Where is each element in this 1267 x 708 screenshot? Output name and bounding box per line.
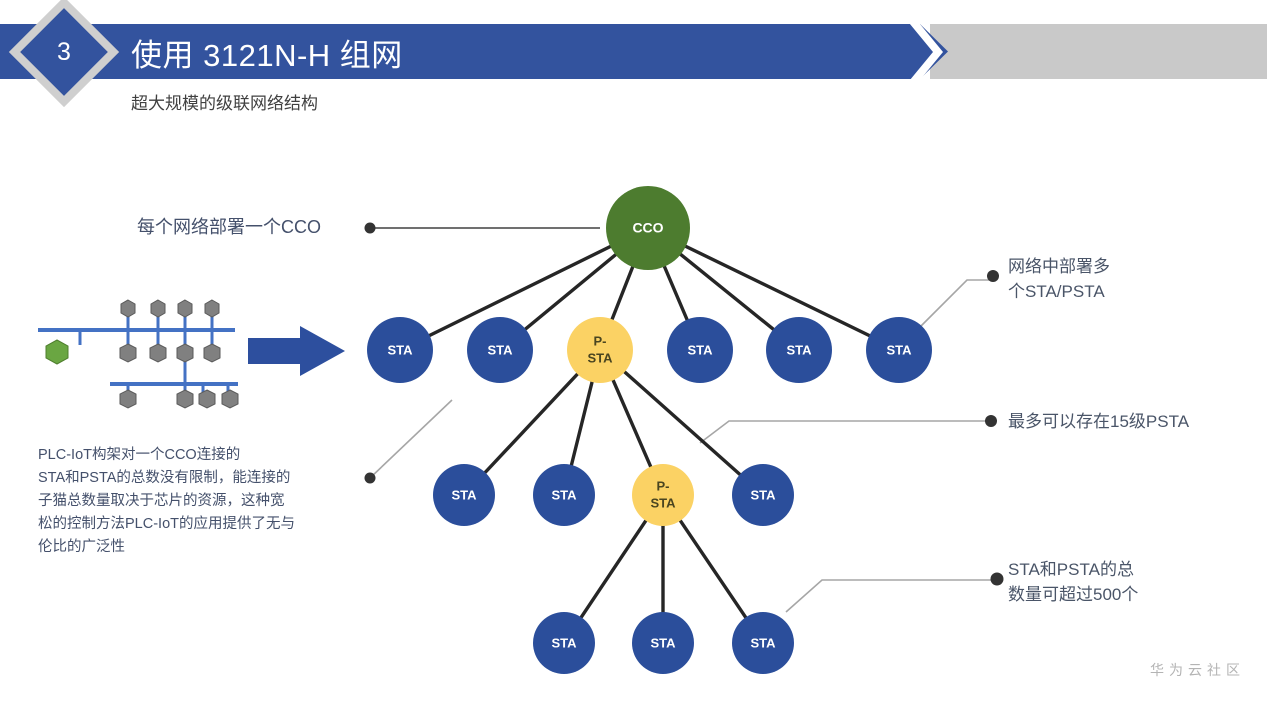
node-sta-3-label: STA [687,342,713,357]
node-cco-label: CCO [632,220,663,236]
node-sta-2-label: STA [487,342,513,357]
node-sta-6-label: STA [451,487,477,502]
tree-nodes: CCO STA STA P- STA STA STA [367,186,932,674]
node-sta-4-label: STA [786,342,812,357]
flow-arrow-icon [248,326,345,376]
slide-number: 3 [25,13,103,91]
node-cco[interactable]: CCO [606,186,690,270]
thumbnail-source-node [46,340,68,364]
annotation-total-count: STA和PSTA的总 数量可超过500个 [1008,557,1138,607]
node-sta-1-label: STA [387,342,413,357]
node-sta-11-label: STA [750,635,776,650]
node-sta-3[interactable]: STA [667,317,733,383]
node-psta-2-label-line2: STA [650,495,676,510]
node-sta-9[interactable]: STA [533,612,595,674]
annotation-description: PLC-IoT构架对一个CCO连接的 STA和PSTA的总数没有限制，能连接的 … [38,444,295,559]
node-sta-8-label: STA [750,487,776,502]
watermark: 华为云社区 [1150,660,1245,680]
node-sta-9-label: STA [551,635,577,650]
node-sta-11[interactable]: STA [732,612,794,674]
node-sta-10[interactable]: STA [632,612,694,674]
leader-lines [370,228,997,612]
node-sta-5-label: STA [886,342,912,357]
leader-dots [365,223,1004,586]
node-sta-7-label: STA [551,487,577,502]
node-sta-2[interactable]: STA [467,317,533,383]
node-sta-8[interactable]: STA [732,464,794,526]
node-sta-1[interactable]: STA [367,317,433,383]
node-psta-2-label-line1: P- [657,478,670,493]
node-sta-5[interactable]: STA [866,317,932,383]
page-title: 使用 3121N-H 组网 [131,30,403,75]
tree-links [400,228,899,643]
slide-canvas: 3 使用 3121N-H 组网 超大规模的级联网络结构 [0,0,1267,708]
plc-bus-thumbnail [38,300,238,408]
node-sta-4[interactable]: STA [766,317,832,383]
node-psta-1-label-line2: STA [587,350,613,365]
node-psta-1-label-line1: P- [594,333,607,348]
page-subtitle: 超大规模的级联网络结构 [131,89,318,114]
annotation-cco: 每个网络部署一个CCO [137,215,321,240]
header-banner-tail [930,24,1267,79]
node-sta-6[interactable]: STA [433,464,495,526]
node-sta-7[interactable]: STA [533,464,595,526]
node-psta-1[interactable]: P- STA [567,317,633,383]
annotation-sta-deployment: 网络中部署多 个STA/PSTA [1008,254,1110,304]
annotation-psta-levels: 最多可以存在15级PSTA [1008,409,1189,434]
node-psta-2[interactable]: P- STA [632,464,694,526]
node-sta-10-label: STA [650,635,676,650]
